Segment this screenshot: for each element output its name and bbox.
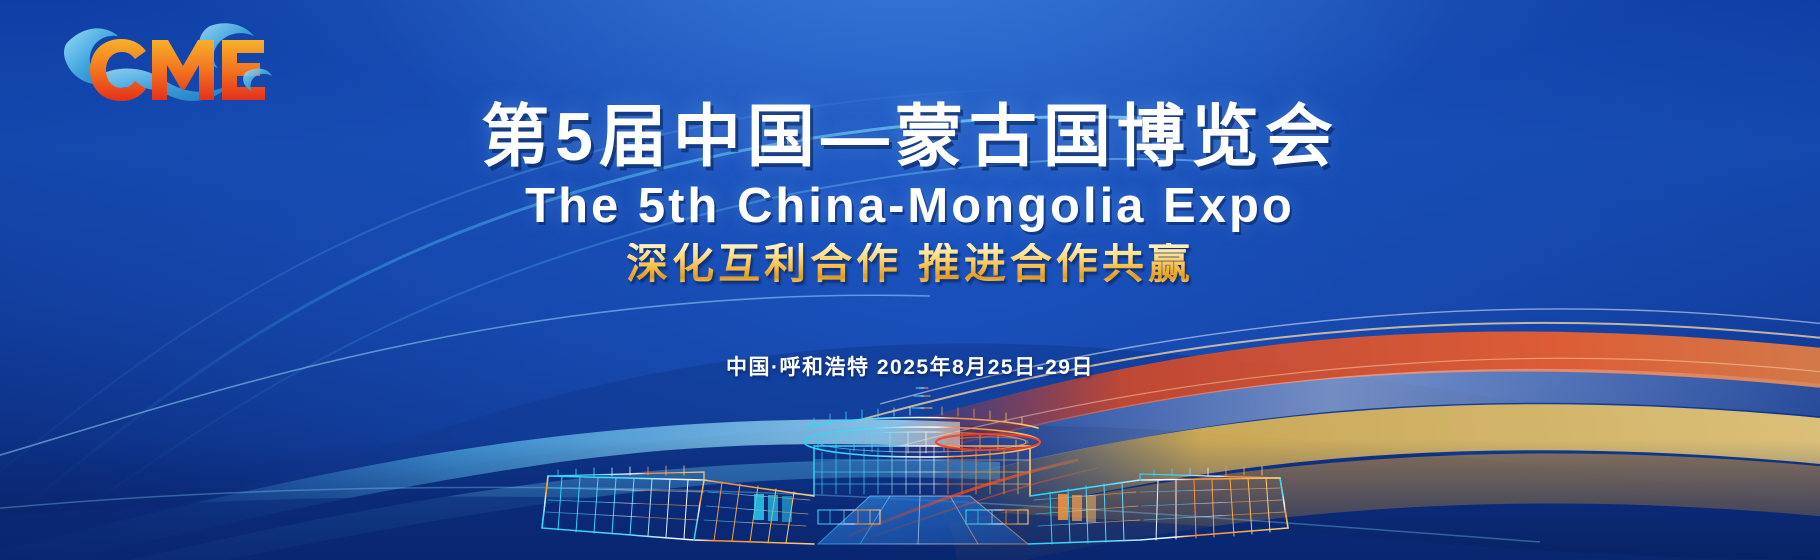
- expo-banner: 第5届中国—蒙古国博览会 The 5th China-Mongolia Expo…: [0, 0, 1820, 560]
- english-title: The 5th China-Mongolia Expo: [0, 182, 1820, 231]
- cme-logo: [60, 18, 272, 110]
- chinese-title: 第5届中国—蒙古国博览会: [0, 103, 1820, 171]
- tagline: 深化互利合作 推进合作共赢: [0, 243, 1820, 285]
- convention-center-illustration: [518, 368, 1308, 560]
